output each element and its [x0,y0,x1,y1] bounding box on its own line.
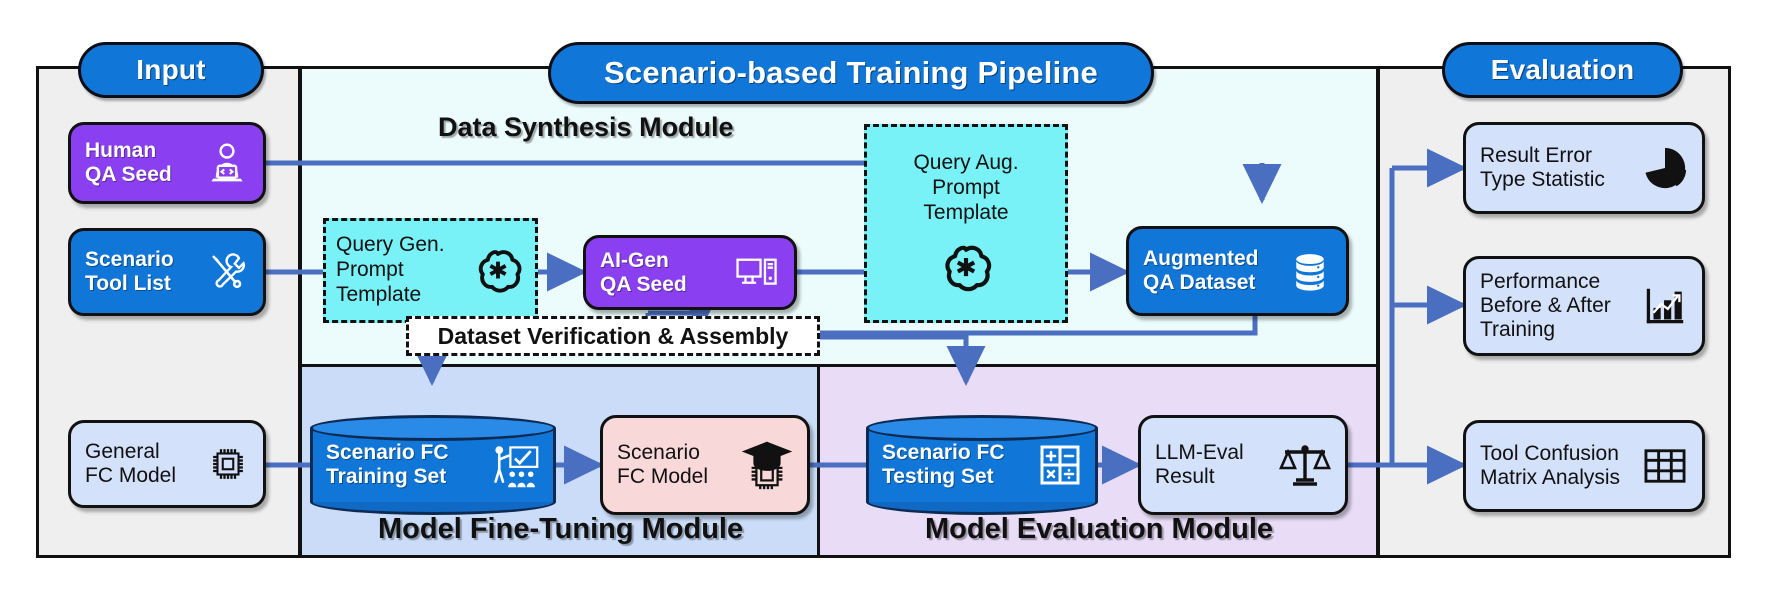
scenario-fc-testing-set-label: Scenario FC Testing Set [882,441,1005,488]
augmented-qa-dataset-node[interactable]: Augmented QA Dataset [1126,226,1349,316]
scenario-tool-list-label: ScenarioTool List [85,248,174,295]
eval-node-tool-confusion-matrix-analysis[interactable]: Tool ConfusionMatrix Analysis [1463,420,1705,512]
bar-chart-trend-icon [1642,283,1688,329]
input-node-scenario-tool-list[interactable]: ScenarioTool List [68,228,266,316]
result-error-type-statistic-label: Result ErrorType Statistic [1480,144,1605,191]
balance-scale-icon [1279,441,1331,489]
query-aug-prompt-template[interactable]: Query Aug. Prompt Template [864,124,1068,323]
openai-logo-icon [471,243,525,297]
database-icon [1288,249,1332,293]
query-aug-prompt-label: Query Aug. Prompt Template [913,151,1018,225]
general-fc-model-label: GeneralFC Model [85,440,176,487]
wire-verify-to-testingset [820,337,966,382]
wrench-screwdriver-icon [205,250,249,294]
query-gen-prompt-label: Query Gen. Prompt Template [336,233,445,307]
human-qa-seed-label: HumanQA Seed [85,139,172,186]
cpu-chip-icon [207,443,249,485]
pie-chart-icon [1642,145,1688,191]
dataset-verification-assembly[interactable]: Dataset Verification & Assembly [406,316,820,356]
table-grid-icon [1642,446,1688,486]
input-node-human-qa-seed[interactable]: HumanQA Seed [68,122,266,204]
augmented-qa-dataset-label: Augmented QA Dataset [1143,247,1259,294]
ai-gen-qa-seed-node[interactable]: AI-Gen QA Seed [583,235,797,310]
scenario-fc-training-set-label: Scenario FC Training Set [326,441,449,488]
performance-before-after-training-label: Performance Before & After Training [1480,270,1611,341]
calculator-icon [1038,443,1082,487]
ai-gen-qa-seed-label: AI-Gen QA Seed [600,249,687,296]
scenario-fc-training-set-node[interactable]: Scenario FC Training Set [310,415,556,515]
graduation-cap-chip-icon [741,439,793,491]
pipeline-diagram: long rail across synthesis to Query Aug.… [0,0,1767,593]
scenario-fc-model-label: Scenario FC Model [617,441,708,488]
person-laptop-code-icon [205,141,249,185]
llm-eval-result-node[interactable]: LLM-Eval Result [1138,415,1348,515]
scenario-fc-testing-set-node[interactable]: Scenario FC Testing Set [866,415,1098,515]
llm-eval-result-label: LLM-Eval Result [1155,441,1244,488]
eval-node-result-error-type-statistic[interactable]: Result ErrorType Statistic [1463,122,1705,214]
input-node-general-fc-model[interactable]: GeneralFC Model [68,420,266,508]
teacher-whiteboard-icon [490,442,540,488]
dataset-verification-label: Dataset Verification & Assembly [438,323,789,350]
openai-logo-icon [937,238,995,296]
query-gen-prompt-template[interactable]: Query Gen. Prompt Template [323,218,538,323]
desktop-computer-icon [734,253,780,293]
tool-confusion-matrix-analysis-label: Tool ConfusionMatrix Analysis [1480,442,1620,489]
eval-node-performance-before-after-training[interactable]: Performance Before & After Training [1463,256,1705,356]
scenario-fc-model-node[interactable]: Scenario FC Model [600,415,810,515]
